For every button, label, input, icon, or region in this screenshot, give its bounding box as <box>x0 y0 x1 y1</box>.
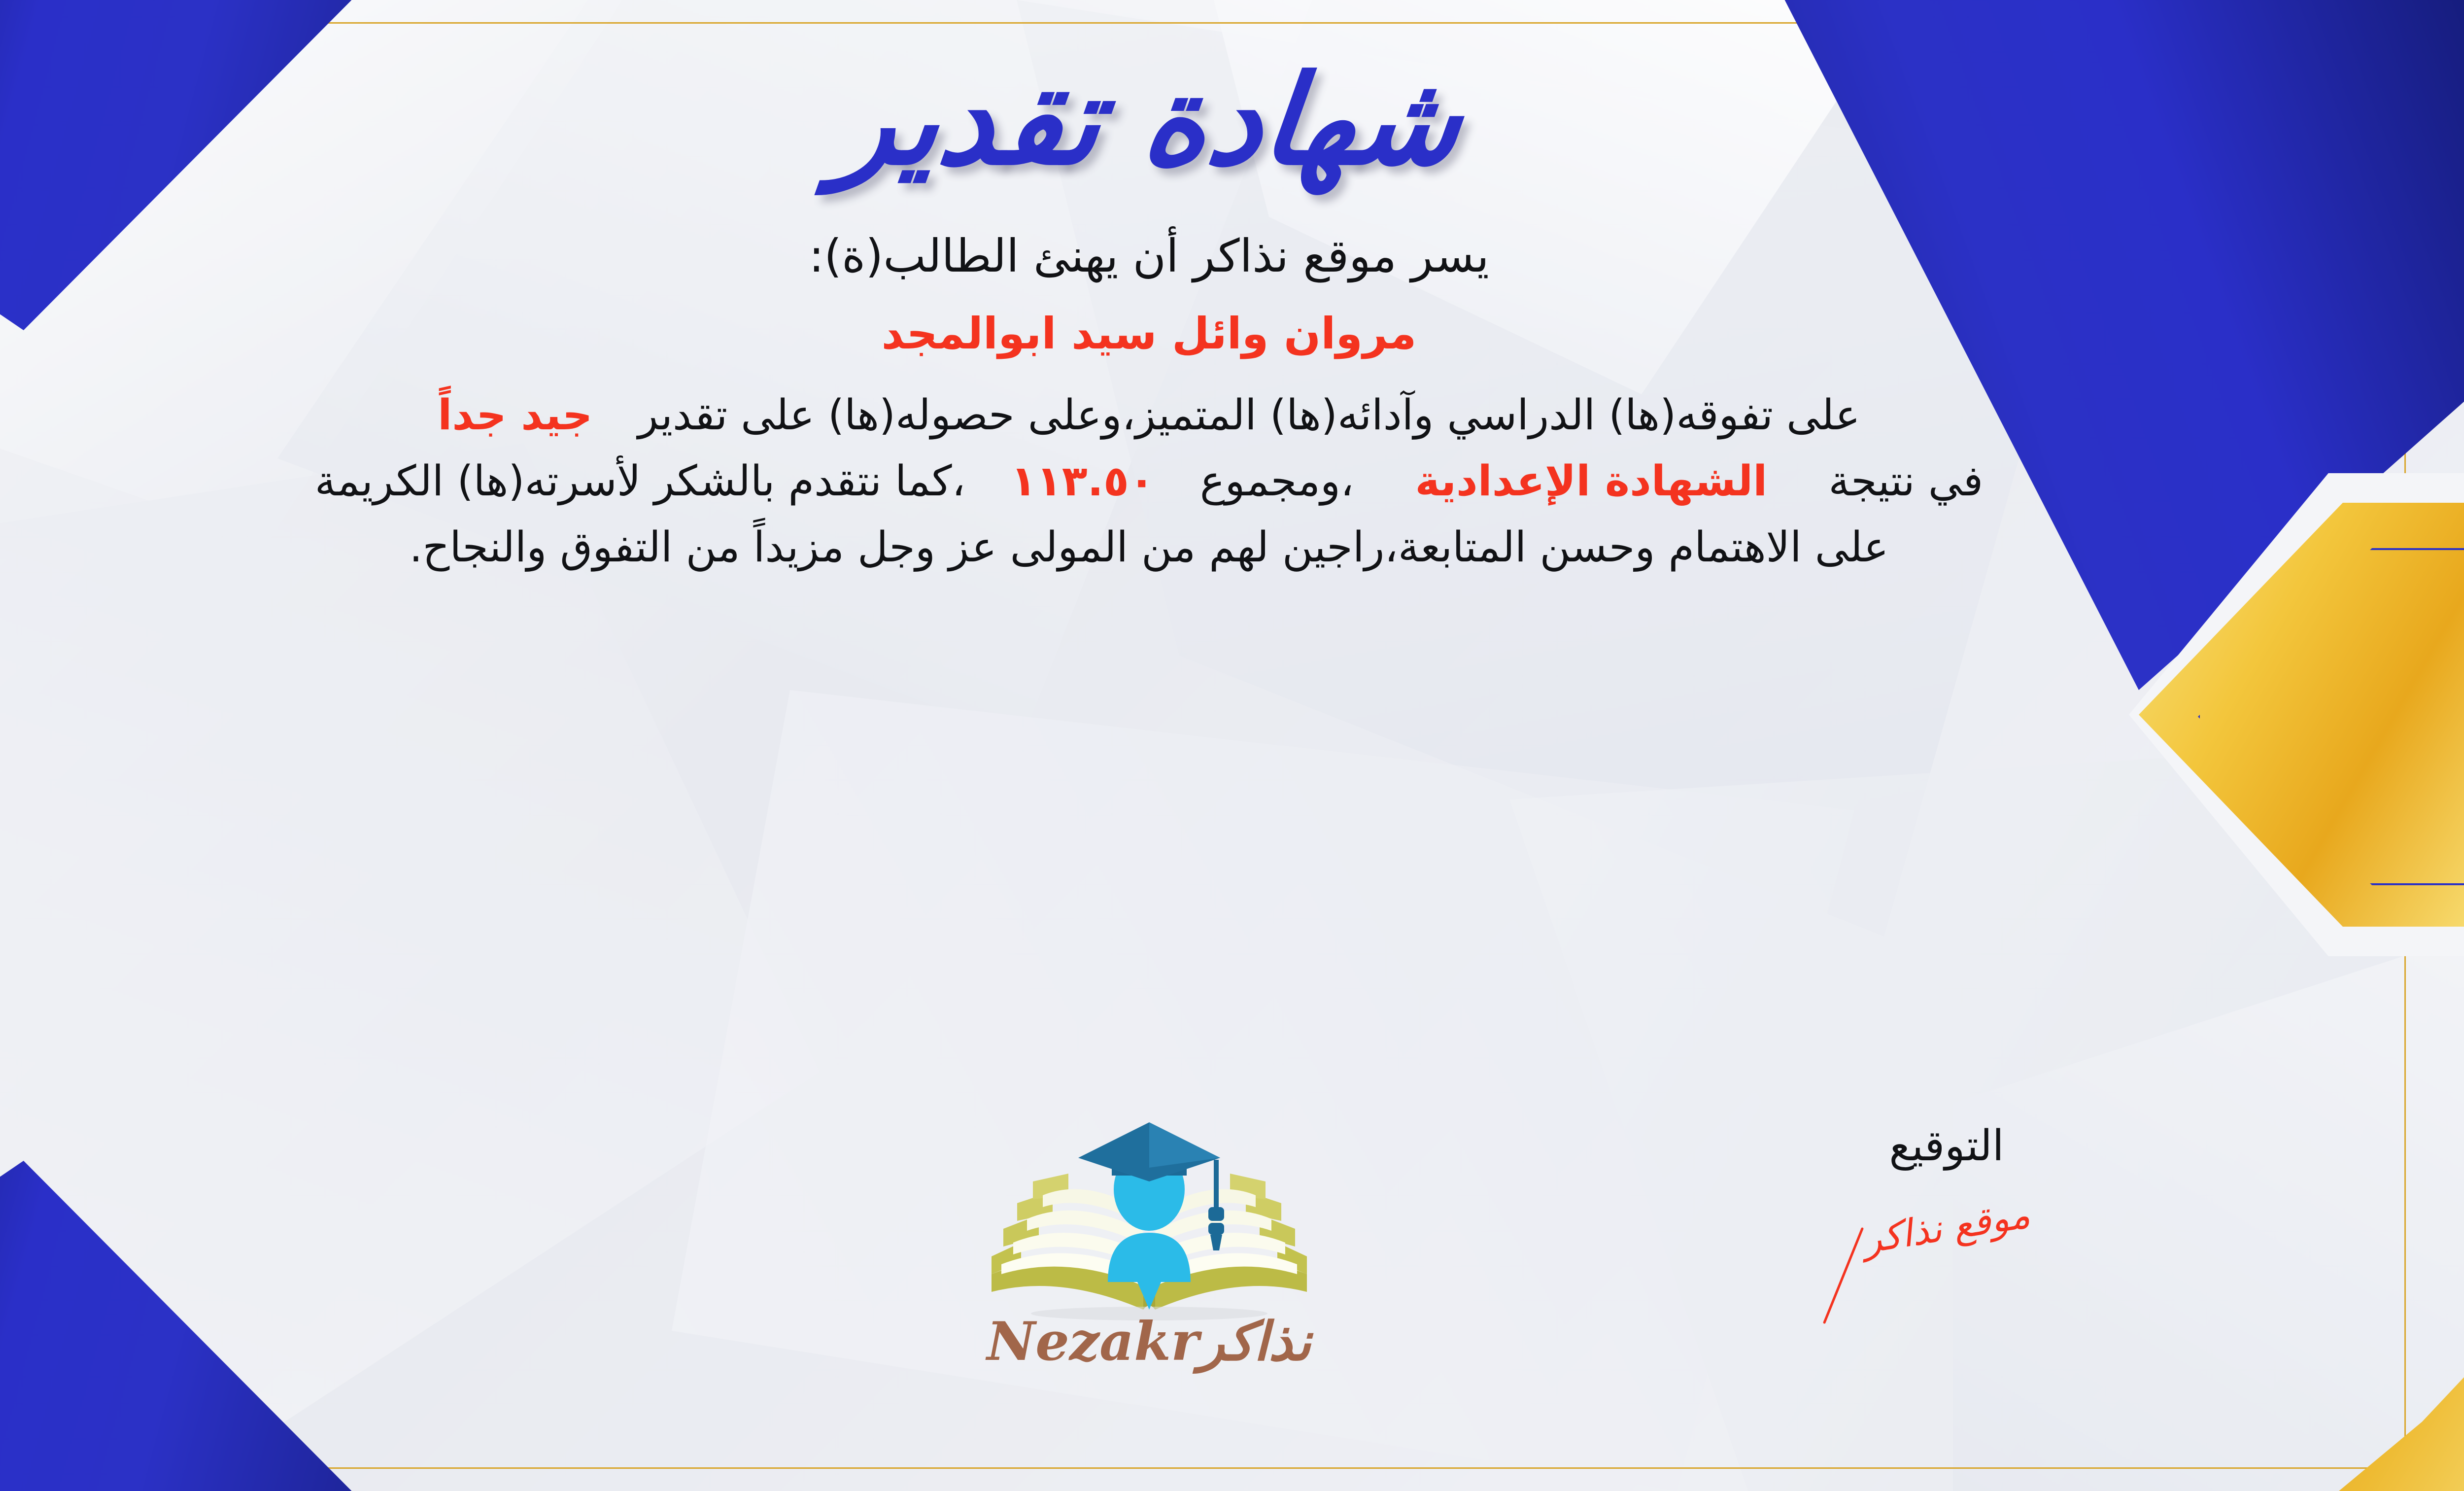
award-paragraph: على تفوقه(ها) الدراسي وآدائه(ها) المتميز… <box>287 382 2012 581</box>
brand-logo-text: نذاكرNezakr <box>962 1311 1336 1373</box>
signature-handwritten: موقع نذاكر <box>1860 1192 2033 1262</box>
total-score: ١١٣.٥٠ <box>1011 457 1155 506</box>
intro-line: يسر موقع نذاكر أن يهنئ الطالب(ة): <box>287 230 2012 282</box>
certificate-body: يسر موقع نذاكر أن يهنئ الطالب(ة): مروان … <box>287 230 2012 581</box>
award-text-segment-3: ،ومجموع <box>1200 457 1354 506</box>
certificate-page: شهادة تقدير يسر موقع نذاكر أن يهنئ الطال… <box>0 0 2464 1491</box>
exam-name: الشهادة الإعدادية <box>1415 457 1768 506</box>
brand-name-arabic: نذاكر <box>1199 1311 1311 1373</box>
brand-logo: نذاكرNezakr <box>962 1116 1336 1373</box>
certificate-footer: التوقيع موقع نذاكر <box>0 1121 2390 1437</box>
grade-value: جيد جداً <box>438 391 592 440</box>
signature-label: التوقيع <box>1818 1121 2075 1171</box>
student-name: مروان وائل سيد ابوالمجد <box>287 308 2012 359</box>
graduate-book-logo-icon <box>962 1116 1336 1323</box>
award-text-segment-2: في نتيجة <box>1828 457 1983 506</box>
certificate-title: شهادة تقدير <box>830 49 1468 191</box>
signature-stroke <box>1823 1227 1864 1324</box>
brand-name-latin: Nezakr <box>987 1311 1198 1373</box>
award-text-segment-1: على تفوقه(ها) الدراسي وآدائه(ها) المتميز… <box>638 391 1860 440</box>
signature-block: التوقيع موقع نذاكر <box>1818 1121 2075 1249</box>
